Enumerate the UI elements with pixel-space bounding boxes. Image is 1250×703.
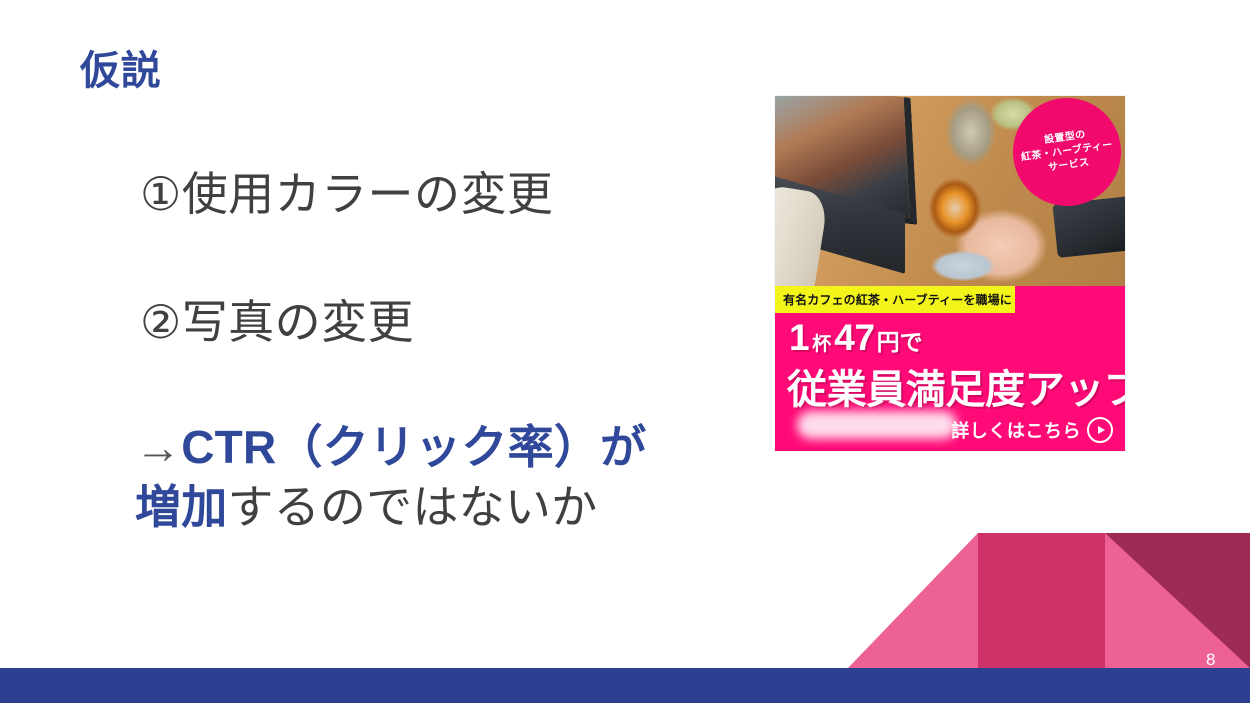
conclusion-text: →CTR（クリック率）が増加するのではないか [135,418,735,538]
ad-headline: 従業員満足度アップ [787,357,1125,415]
play-circle-icon [1087,417,1113,443]
ad-price-line: 1杯47円で [789,317,923,359]
page-number: 8 [1206,650,1215,670]
conclusion-highlight-increase: 増加 [135,481,227,533]
ad-cta-label: 詳しくはこちら [951,417,1081,443]
ad-price-number-1: 1 [789,317,809,358]
ad-redacted-logo [797,411,957,439]
body-line-1: ①使用カラーの変更 [140,166,553,224]
page-title: 仮説 [80,47,162,95]
footer-bar [0,668,1250,703]
ad-badge-line-3: サービス [1048,158,1091,174]
ad-price-unit-1: 杯 [809,334,834,355]
decoration-triangle-left [848,533,978,668]
conclusion-highlight-ctr: CTR（クリック率）が [181,421,646,473]
ad-yellow-strip: 有名カフェの紅茶・ハーブティーを職場に [775,286,1015,313]
decoration-block-middle [978,533,1105,668]
ad-cta-button[interactable]: 詳しくはこちら [951,417,1113,443]
ad-price-unit-2: 円で [875,329,923,355]
ad-price-number-2: 47 [834,317,874,358]
conclusion-tail: するのではないか [227,481,597,533]
ad-pink-panel: 1杯47円で 従業員満足度アップ 詳しくはこちら [775,313,1125,451]
body-line-2: ②写真の変更 [140,294,414,352]
ad-banner-image: 設置型の 紅茶・ハーブティー サービス 有名カフェの紅茶・ハーブティーを職場に … [775,96,1125,451]
slide-canvas: 仮説 ①使用カラーの変更 ②写真の変更 →CTR（クリック率）が増加するのではな… [0,0,1250,703]
arrow-glyph: → [135,421,181,473]
ad-yellow-strip-text: 有名カフェの紅茶・ハーブティーを職場に [775,291,1012,308]
